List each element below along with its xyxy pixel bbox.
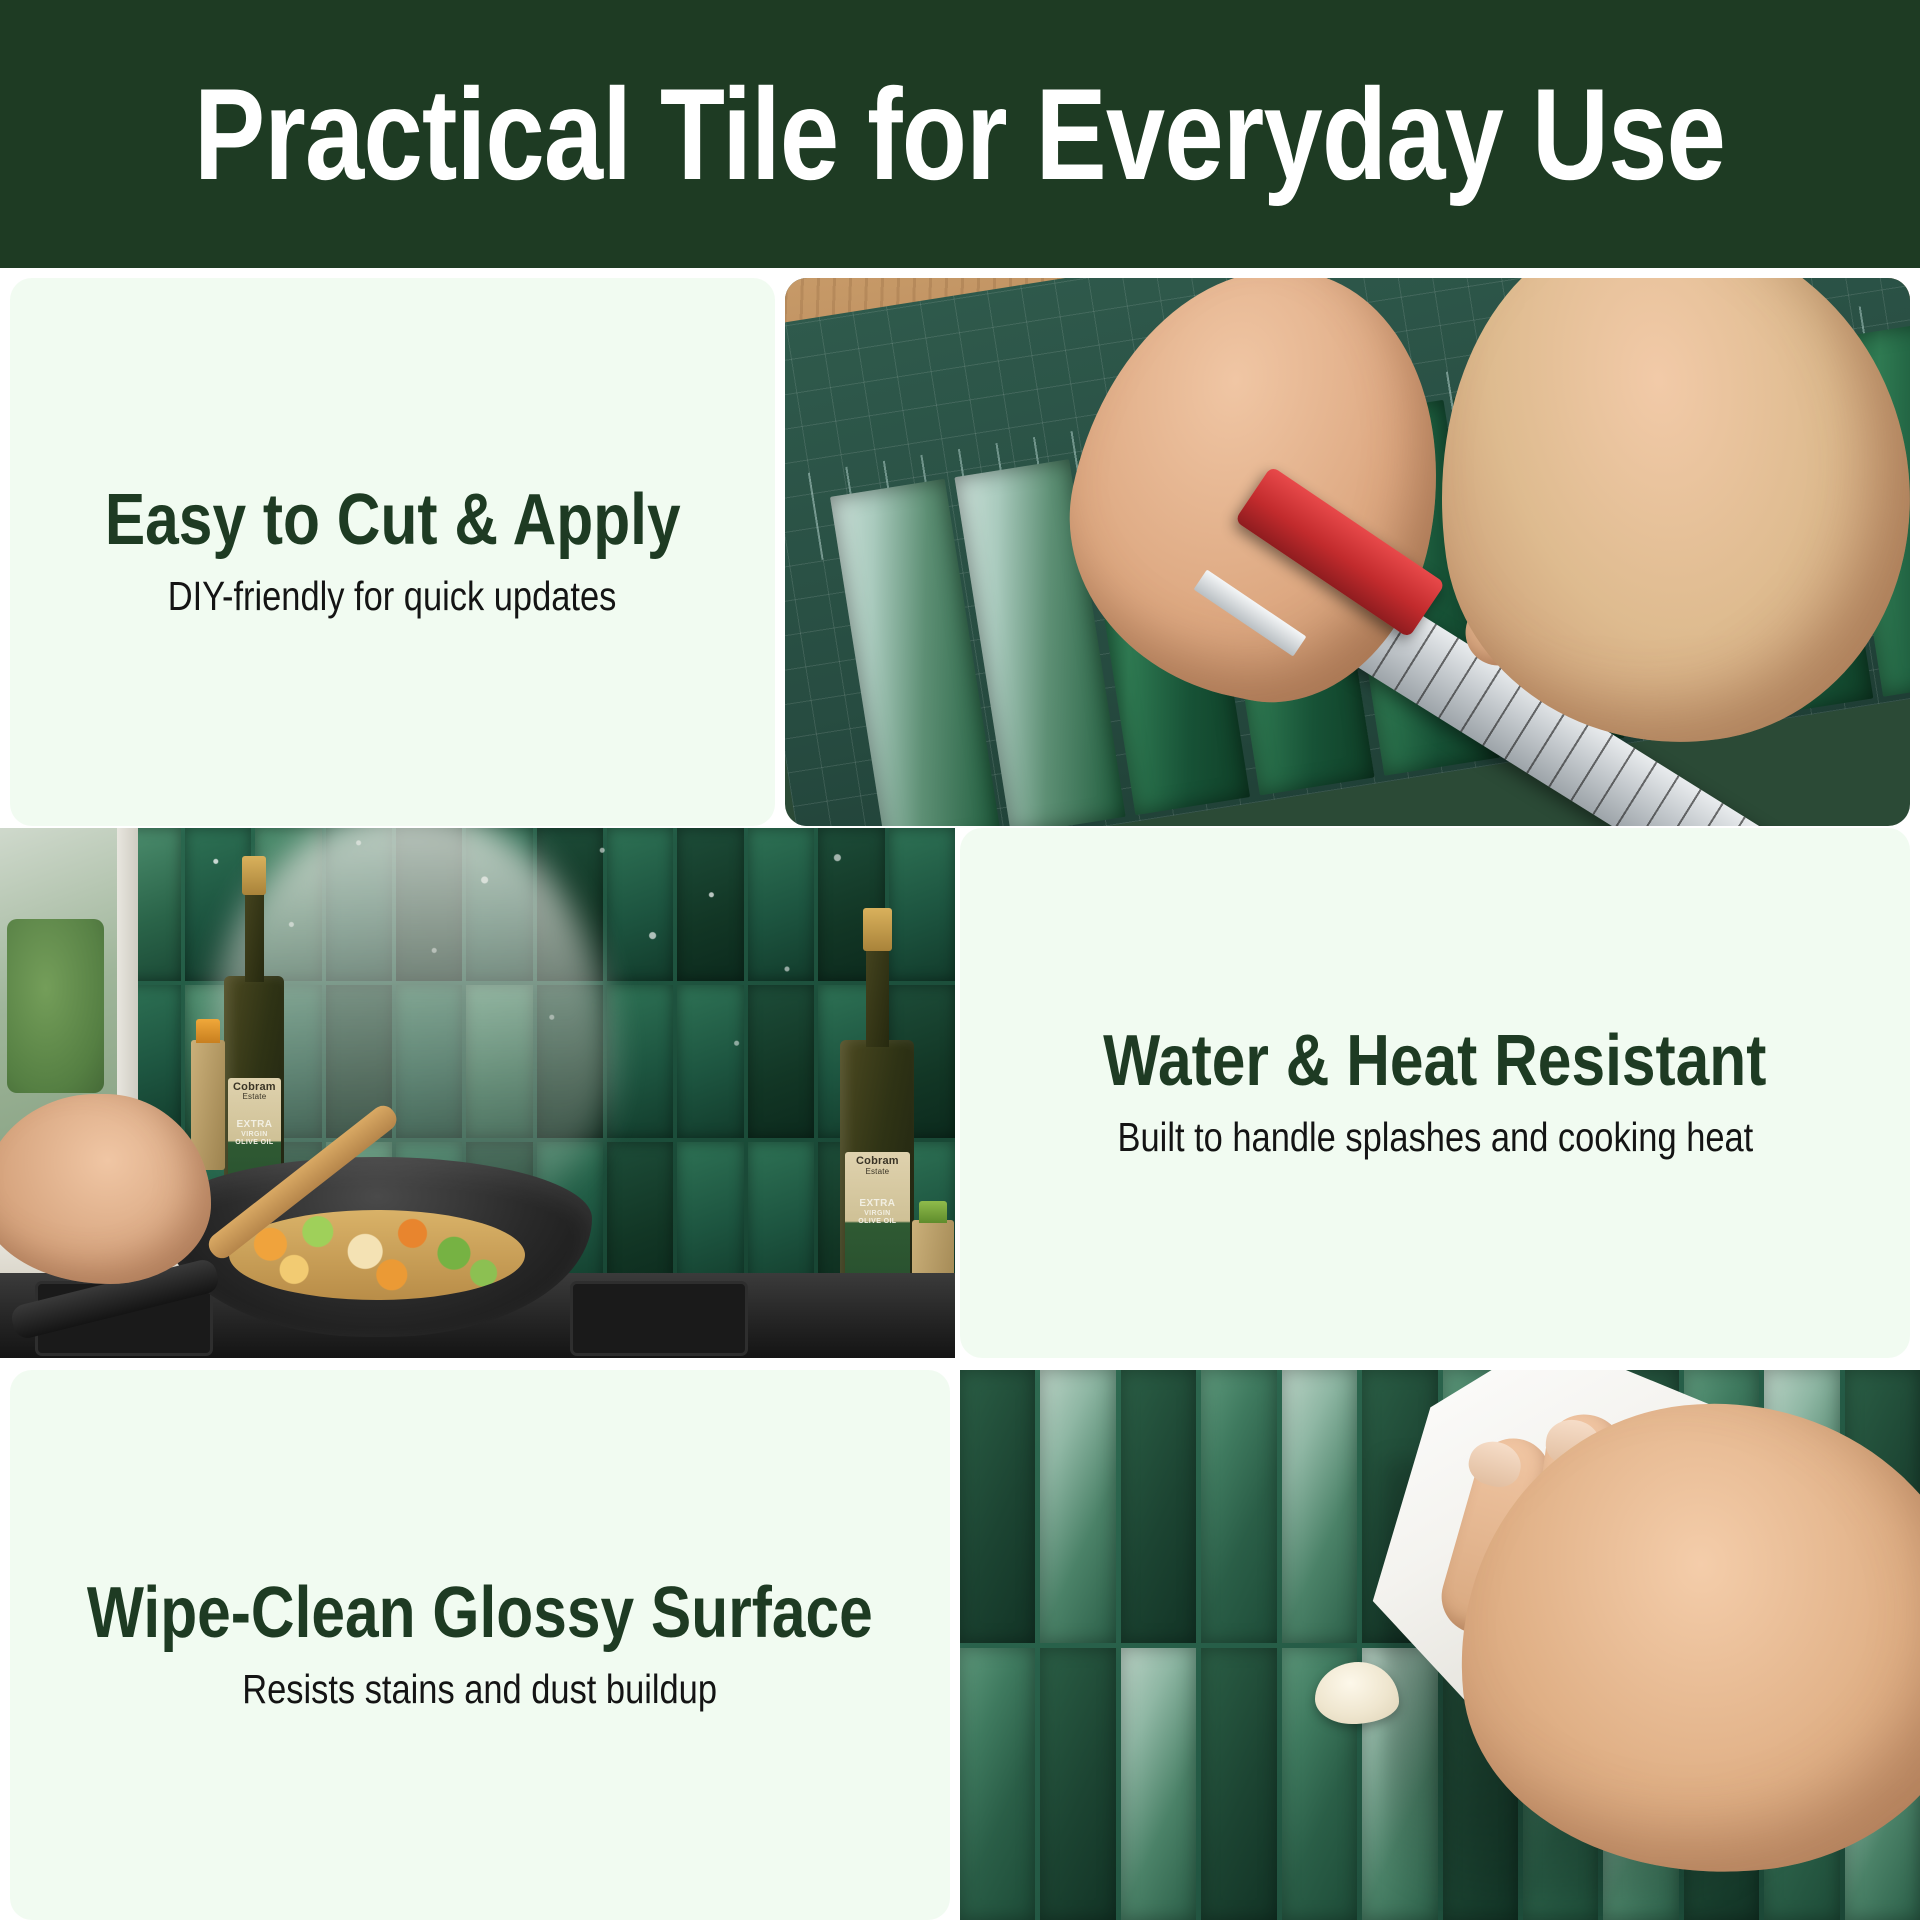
feature-image-water-heat-resistant: Cobram Estate EXTRA VIRGIN OLIVE OIL Cob… — [0, 828, 955, 1358]
tile-column — [1201, 1370, 1276, 1920]
feature-title-wipe-clean-glossy: Wipe-Clean Glossy Surface — [87, 1576, 873, 1652]
bottle-cap — [863, 908, 893, 951]
spice-jar-lid — [919, 1201, 948, 1223]
tile — [1201, 1370, 1276, 1643]
bottle-brand-text: Cobram Estate — [856, 1156, 899, 1176]
page-title: Practical Tile for Everyday Use — [194, 69, 1725, 199]
stir-fry-vegetables — [229, 1210, 525, 1300]
tile-column — [1040, 1370, 1115, 1920]
tile-column — [1121, 1370, 1196, 1920]
feature-card-easy-to-cut: Easy to Cut & Apply DIY-friendly for qui… — [10, 278, 775, 826]
tile — [1282, 1370, 1357, 1643]
tile-column — [1282, 1370, 1357, 1920]
feature-image-easy-to-cut — [785, 278, 1910, 826]
feature-subtitle-easy-to-cut: DIY-friendly for quick updates — [168, 572, 617, 621]
feature-image-wipe-clean-glossy — [960, 1370, 1920, 1920]
tile — [960, 1648, 1035, 1920]
feature-card-water-heat-resistant: Water & Heat Resistant Built to handle s… — [960, 828, 1910, 1358]
tile — [1121, 1648, 1196, 1920]
spice-jar-lid — [196, 1019, 219, 1042]
bottle-neck — [866, 948, 890, 1047]
bottle-brand-text: Cobram Estate — [233, 1082, 276, 1102]
burner-grate — [573, 1284, 745, 1353]
infographic-page: Practical Tile for Everyday Use Easy to … — [0, 0, 1920, 1920]
feature-card-wipe-clean-glossy: Wipe-Clean Glossy Surface Resists stains… — [10, 1370, 950, 1920]
bottle-cap — [242, 856, 266, 895]
tile — [960, 1370, 1035, 1643]
feature-title-water-heat-resistant: Water & Heat Resistant — [1103, 1024, 1766, 1100]
tile — [1040, 1370, 1115, 1643]
tile — [1121, 1370, 1196, 1643]
feature-subtitle-water-heat-resistant: Built to handle splashes and cooking hea… — [1117, 1113, 1753, 1162]
feature-subtitle-wipe-clean-glossy: Resists stains and dust buildup — [243, 1665, 718, 1714]
bottle-evoo-text: EXTRA VIRGIN OLIVE OIL — [858, 1198, 896, 1226]
tile — [1040, 1648, 1115, 1920]
bottle-evoo-text: EXTRA VIRGIN OLIVE OIL — [235, 1119, 273, 1147]
bottle-neck — [245, 892, 264, 982]
header-banner: Practical Tile for Everyday Use — [0, 0, 1920, 268]
tile-column — [960, 1370, 1035, 1920]
feature-title-easy-to-cut: Easy to Cut & Apply — [105, 483, 681, 559]
tile — [1201, 1648, 1276, 1920]
